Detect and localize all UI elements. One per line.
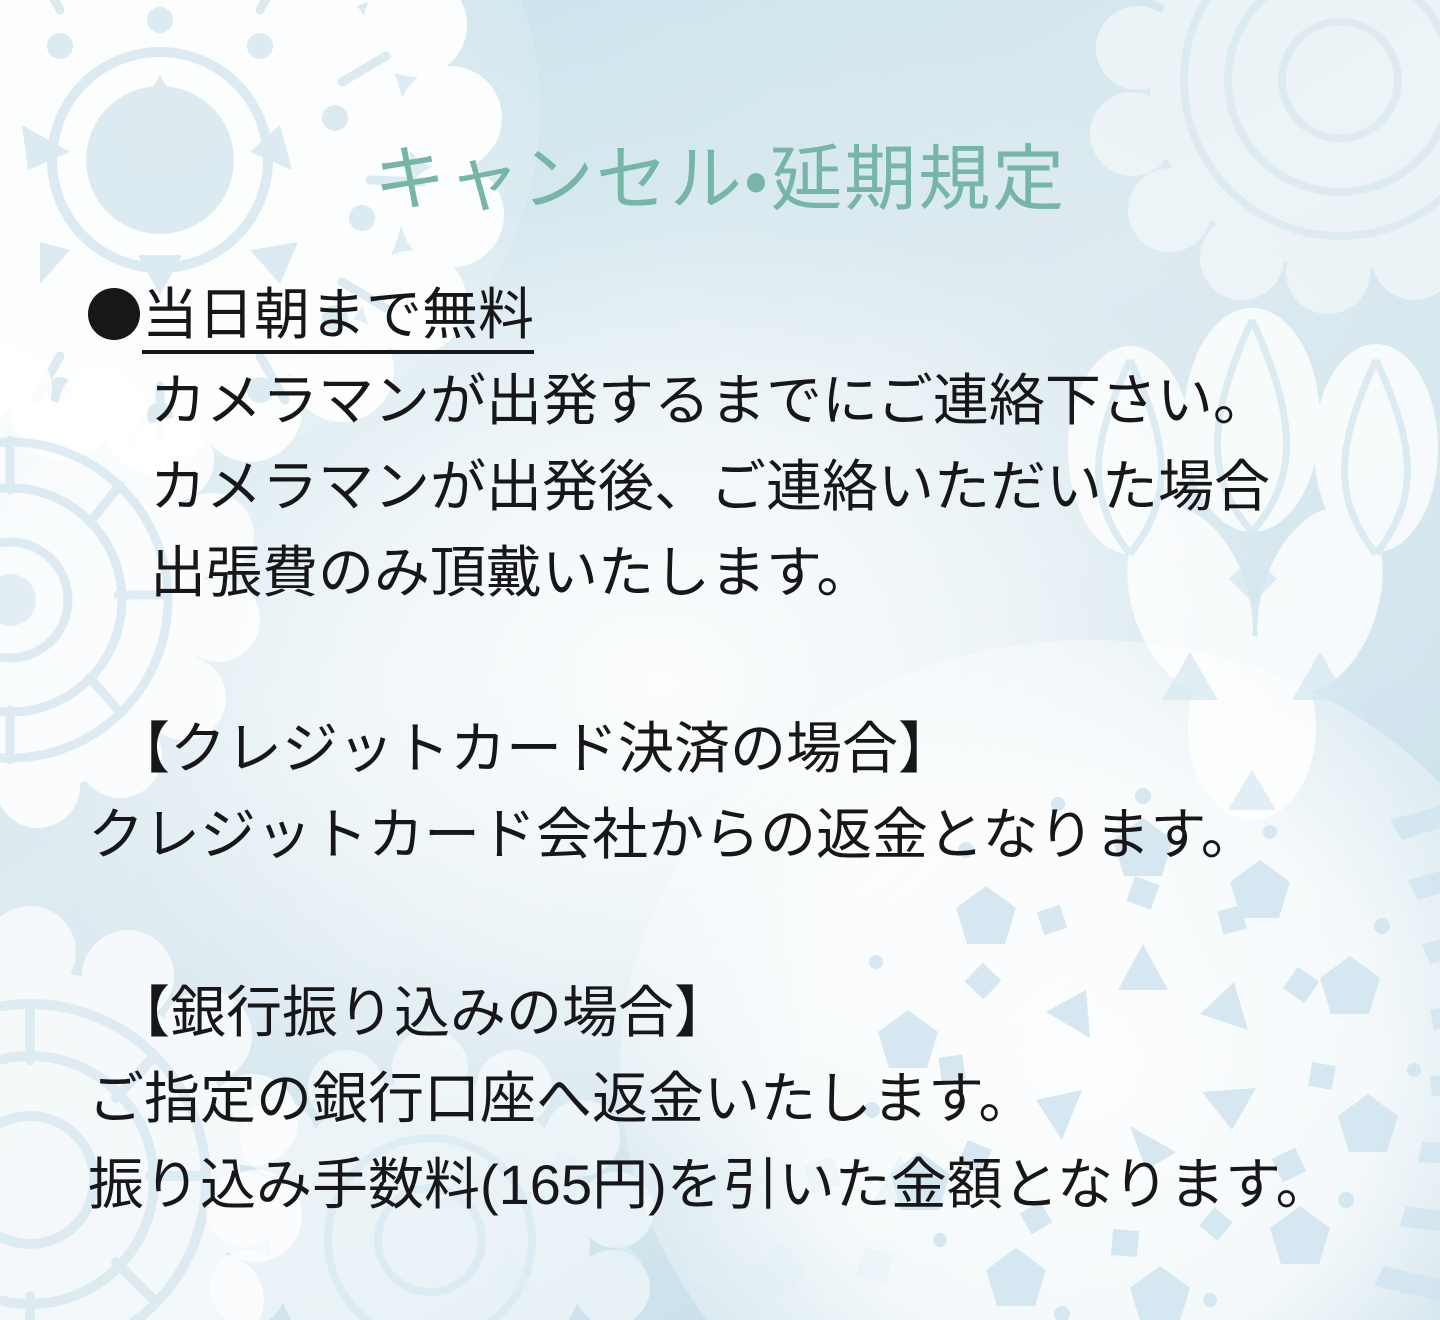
section-spacer [88,616,1408,706]
slide-content: キャンセル・延期規定 当日朝まで無料 カメラマンが出発するまでにご連絡下さい。 … [0,0,1440,1320]
policy-body: 当日朝まで無料 カメラマンが出発するまでにご連絡下さい。 カメラマンが出発後、ご… [88,272,1408,1228]
bullet-dot-icon [88,288,140,340]
cancellation-policy-slide: キャンセル・延期規定 当日朝まで無料 カメラマンが出発するまでにご連絡下さい。 … [0,0,1440,1320]
section-free-until-morning: 当日朝まで無料 カメラマンが出発するまでにご連絡下さい。 カメラマンが出発後、ご… [88,272,1408,616]
policy-line: 振り込み手数料(165円)を引いた金額となります。 [88,1142,1408,1228]
section-bank-transfer: 【銀行振り込みの場合】 ご指定の銀行口座へ返金いたします。 振り込み手数料(16… [88,970,1408,1228]
section-heading-credit-card: 【クレジットカード決済の場合】 [88,706,1408,792]
policy-line: 出張費のみ頂戴いたします。 [88,530,1408,616]
section-heading-bank-transfer: 【銀行振り込みの場合】 [88,970,1408,1056]
page-title: キャンセル・延期規定 [0,144,1440,216]
section-heading-row: 当日朝まで無料 [88,272,1408,358]
policy-line: ご指定の銀行口座へ返金いたします。 [88,1056,1408,1142]
policy-line: クレジットカード会社からの返金となります。 [88,792,1408,878]
policy-line: カメラマンが出発後、ご連絡いただいた場合 [88,444,1408,530]
section-credit-card: 【クレジットカード決済の場合】 クレジットカード会社からの返金となります。 [88,706,1408,878]
section-heading-free-until-morning: 当日朝まで無料 [142,283,534,354]
policy-line: カメラマンが出発するまでにご連絡下さい。 [88,358,1408,444]
section-spacer [88,878,1408,970]
